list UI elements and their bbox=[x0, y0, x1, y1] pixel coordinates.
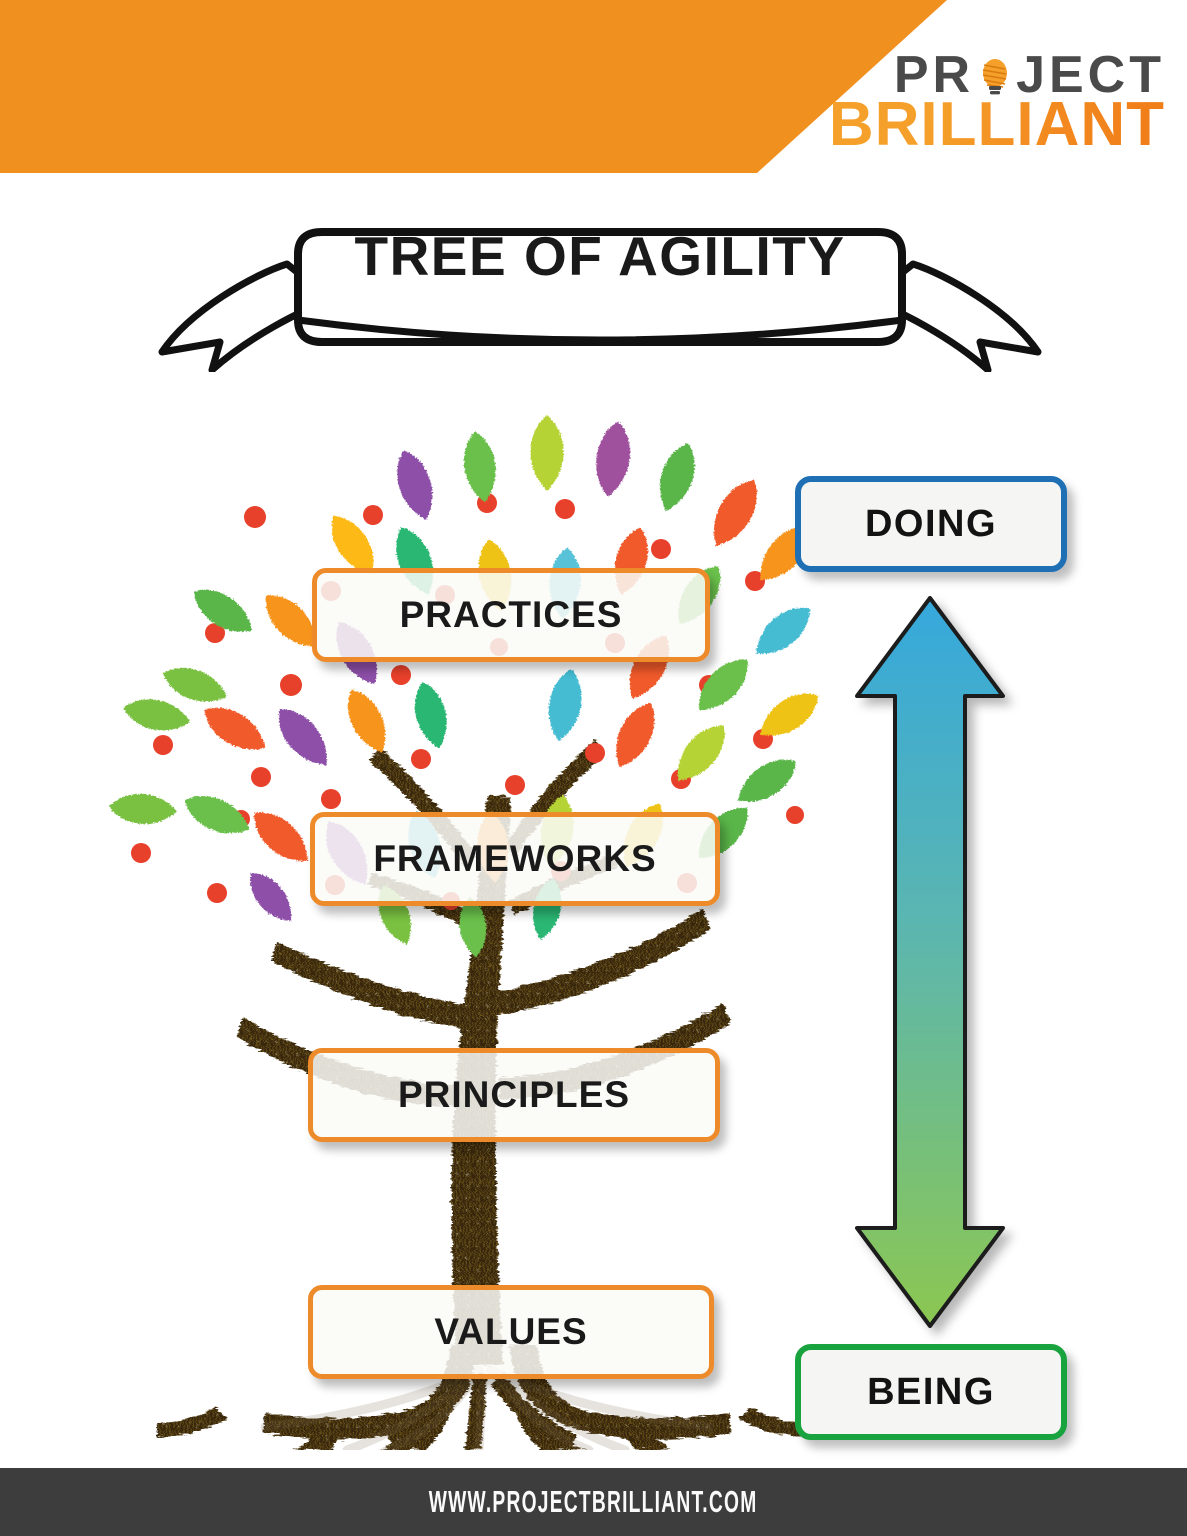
doing-box[interactable]: DOING bbox=[795, 476, 1067, 572]
logo-project-text: PRJECT bbox=[829, 52, 1165, 100]
label-plate-values[interactable]: VALUES bbox=[308, 1285, 714, 1379]
logo-suffix: JECT bbox=[1016, 46, 1165, 104]
website-url[interactable]: WWW.PROJECTBRILLIANT.COM bbox=[429, 1484, 758, 1520]
doing-being-arrow bbox=[845, 592, 1015, 1332]
header-band: PRJECT BRILLIANT bbox=[0, 0, 1187, 176]
banner-ribbon: TREE OF AGILITY bbox=[150, 192, 1050, 372]
logo-brilliant-text: BRILLIANT bbox=[829, 96, 1165, 153]
lightbulb-icon bbox=[975, 58, 1015, 98]
label-plate-frameworks[interactable]: FRAMEWORKS bbox=[310, 812, 720, 906]
page-title: TREE OF AGILITY bbox=[150, 192, 1050, 320]
label-plate-practices[interactable]: PRACTICES bbox=[312, 568, 710, 662]
double-arrow-shape bbox=[845, 592, 1015, 1332]
brand-logo[interactable]: PRJECT BRILLIANT bbox=[829, 52, 1165, 153]
being-box[interactable]: BEING bbox=[795, 1344, 1067, 1440]
footer-bar: WWW.PROJECTBRILLIANT.COM bbox=[0, 1468, 1187, 1536]
label-plate-principles[interactable]: PRINCIPLES bbox=[308, 1048, 720, 1142]
logo-prefix: PR bbox=[894, 46, 974, 104]
